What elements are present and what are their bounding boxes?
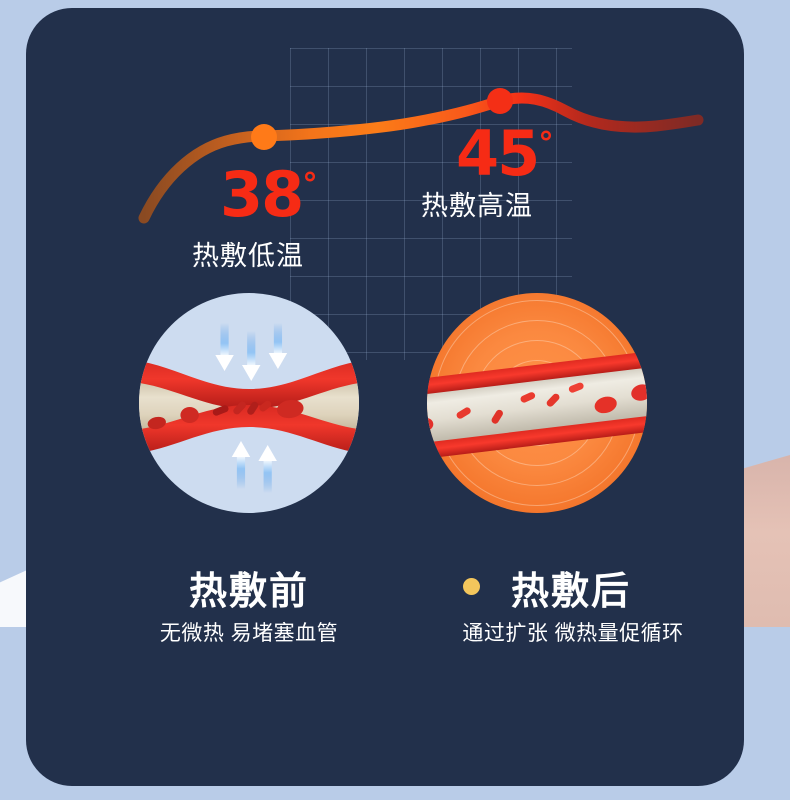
dilated-vessel-illustration bbox=[427, 293, 647, 513]
after-illustration-circle bbox=[427, 293, 647, 513]
high-temp-marker bbox=[487, 88, 513, 114]
bullet-dot-icon bbox=[463, 578, 480, 595]
after-panel-title: 热敷后 bbox=[486, 560, 656, 615]
temperature-line-chart bbox=[26, 8, 744, 308]
before-illustration-circle bbox=[139, 293, 359, 513]
low-temp-degree-icon: ° bbox=[302, 166, 318, 202]
high-temp-value: 45° bbox=[456, 123, 554, 185]
low-temp-value: 38° bbox=[220, 164, 318, 226]
high-temp-number: 45 bbox=[456, 117, 538, 190]
constricted-vessel-illustration bbox=[139, 293, 359, 513]
low-temp-marker bbox=[251, 124, 277, 150]
after-panel-subtitle: 通过扩张 微热量促循环 bbox=[438, 617, 708, 647]
pressure-arrow-up-group bbox=[232, 441, 277, 493]
infographic-card: 38° 热敷低温 45° 热敷高温 bbox=[26, 8, 744, 786]
low-temp-number: 38 bbox=[220, 158, 302, 231]
high-temp-caption: 热敷高温 bbox=[421, 184, 533, 223]
pressure-arrow-down-group bbox=[215, 323, 287, 381]
high-temp-degree-icon: ° bbox=[538, 125, 554, 161]
low-temp-caption: 热敷低温 bbox=[192, 234, 304, 273]
before-panel-title: 热敷前 bbox=[164, 560, 334, 615]
before-panel-subtitle: 无微热 易堵塞血管 bbox=[144, 617, 354, 647]
